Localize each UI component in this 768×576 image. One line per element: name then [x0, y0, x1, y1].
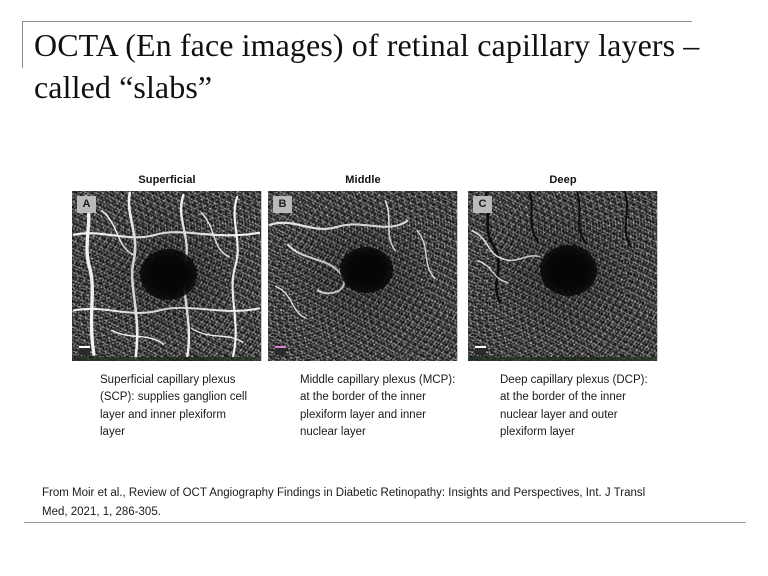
image-vignette	[72, 191, 261, 361]
panel-letter-a: A	[77, 196, 96, 213]
scale-bar-icon	[275, 346, 286, 355]
panel-captions: Superficial capillary plexus (SCP): supp…	[72, 372, 692, 467]
octa-figure-row: Superficial	[72, 174, 658, 364]
panel-letter-b: B	[273, 196, 292, 213]
octa-middle-capillary-plexus-image: B	[268, 191, 458, 361]
caption-middle: Middle capillary plexus (MCP): at the bo…	[300, 372, 458, 442]
image-vignette	[268, 191, 457, 361]
panel-deep: Deep	[468, 174, 658, 364]
source-citation: From Moir et al., Review of OCT Angiogra…	[42, 484, 652, 521]
caption-deep: Deep capillary plexus (DCP): at the bord…	[500, 372, 650, 442]
page-title: OCTA (En face images) of retinal capilla…	[34, 24, 724, 108]
panel-letter-c: C	[473, 196, 492, 213]
scale-bar-icon	[79, 346, 90, 355]
caption-superficial: Superficial capillary plexus (SCP): supp…	[100, 372, 250, 442]
octa-superficial-capillary-plexus-image: A	[72, 191, 262, 361]
panel-heading-superficial: Superficial	[72, 174, 262, 186]
title-left-rule	[22, 21, 23, 68]
panel-heading-middle: Middle	[268, 174, 458, 186]
panel-heading-deep: Deep	[468, 174, 658, 186]
octa-deep-capillary-plexus-image: C	[468, 191, 658, 361]
scale-bar-icon	[475, 346, 486, 355]
panel-superficial: Superficial	[72, 174, 262, 364]
title-top-rule	[22, 21, 692, 22]
citation-bottom-rule	[24, 522, 746, 523]
image-bottom-strip	[72, 357, 261, 361]
slide-canvas: OCTA (En face images) of retinal capilla…	[0, 0, 768, 576]
panel-middle: Middle B	[268, 174, 458, 364]
image-bottom-strip	[468, 357, 657, 361]
image-vignette	[468, 191, 657, 361]
